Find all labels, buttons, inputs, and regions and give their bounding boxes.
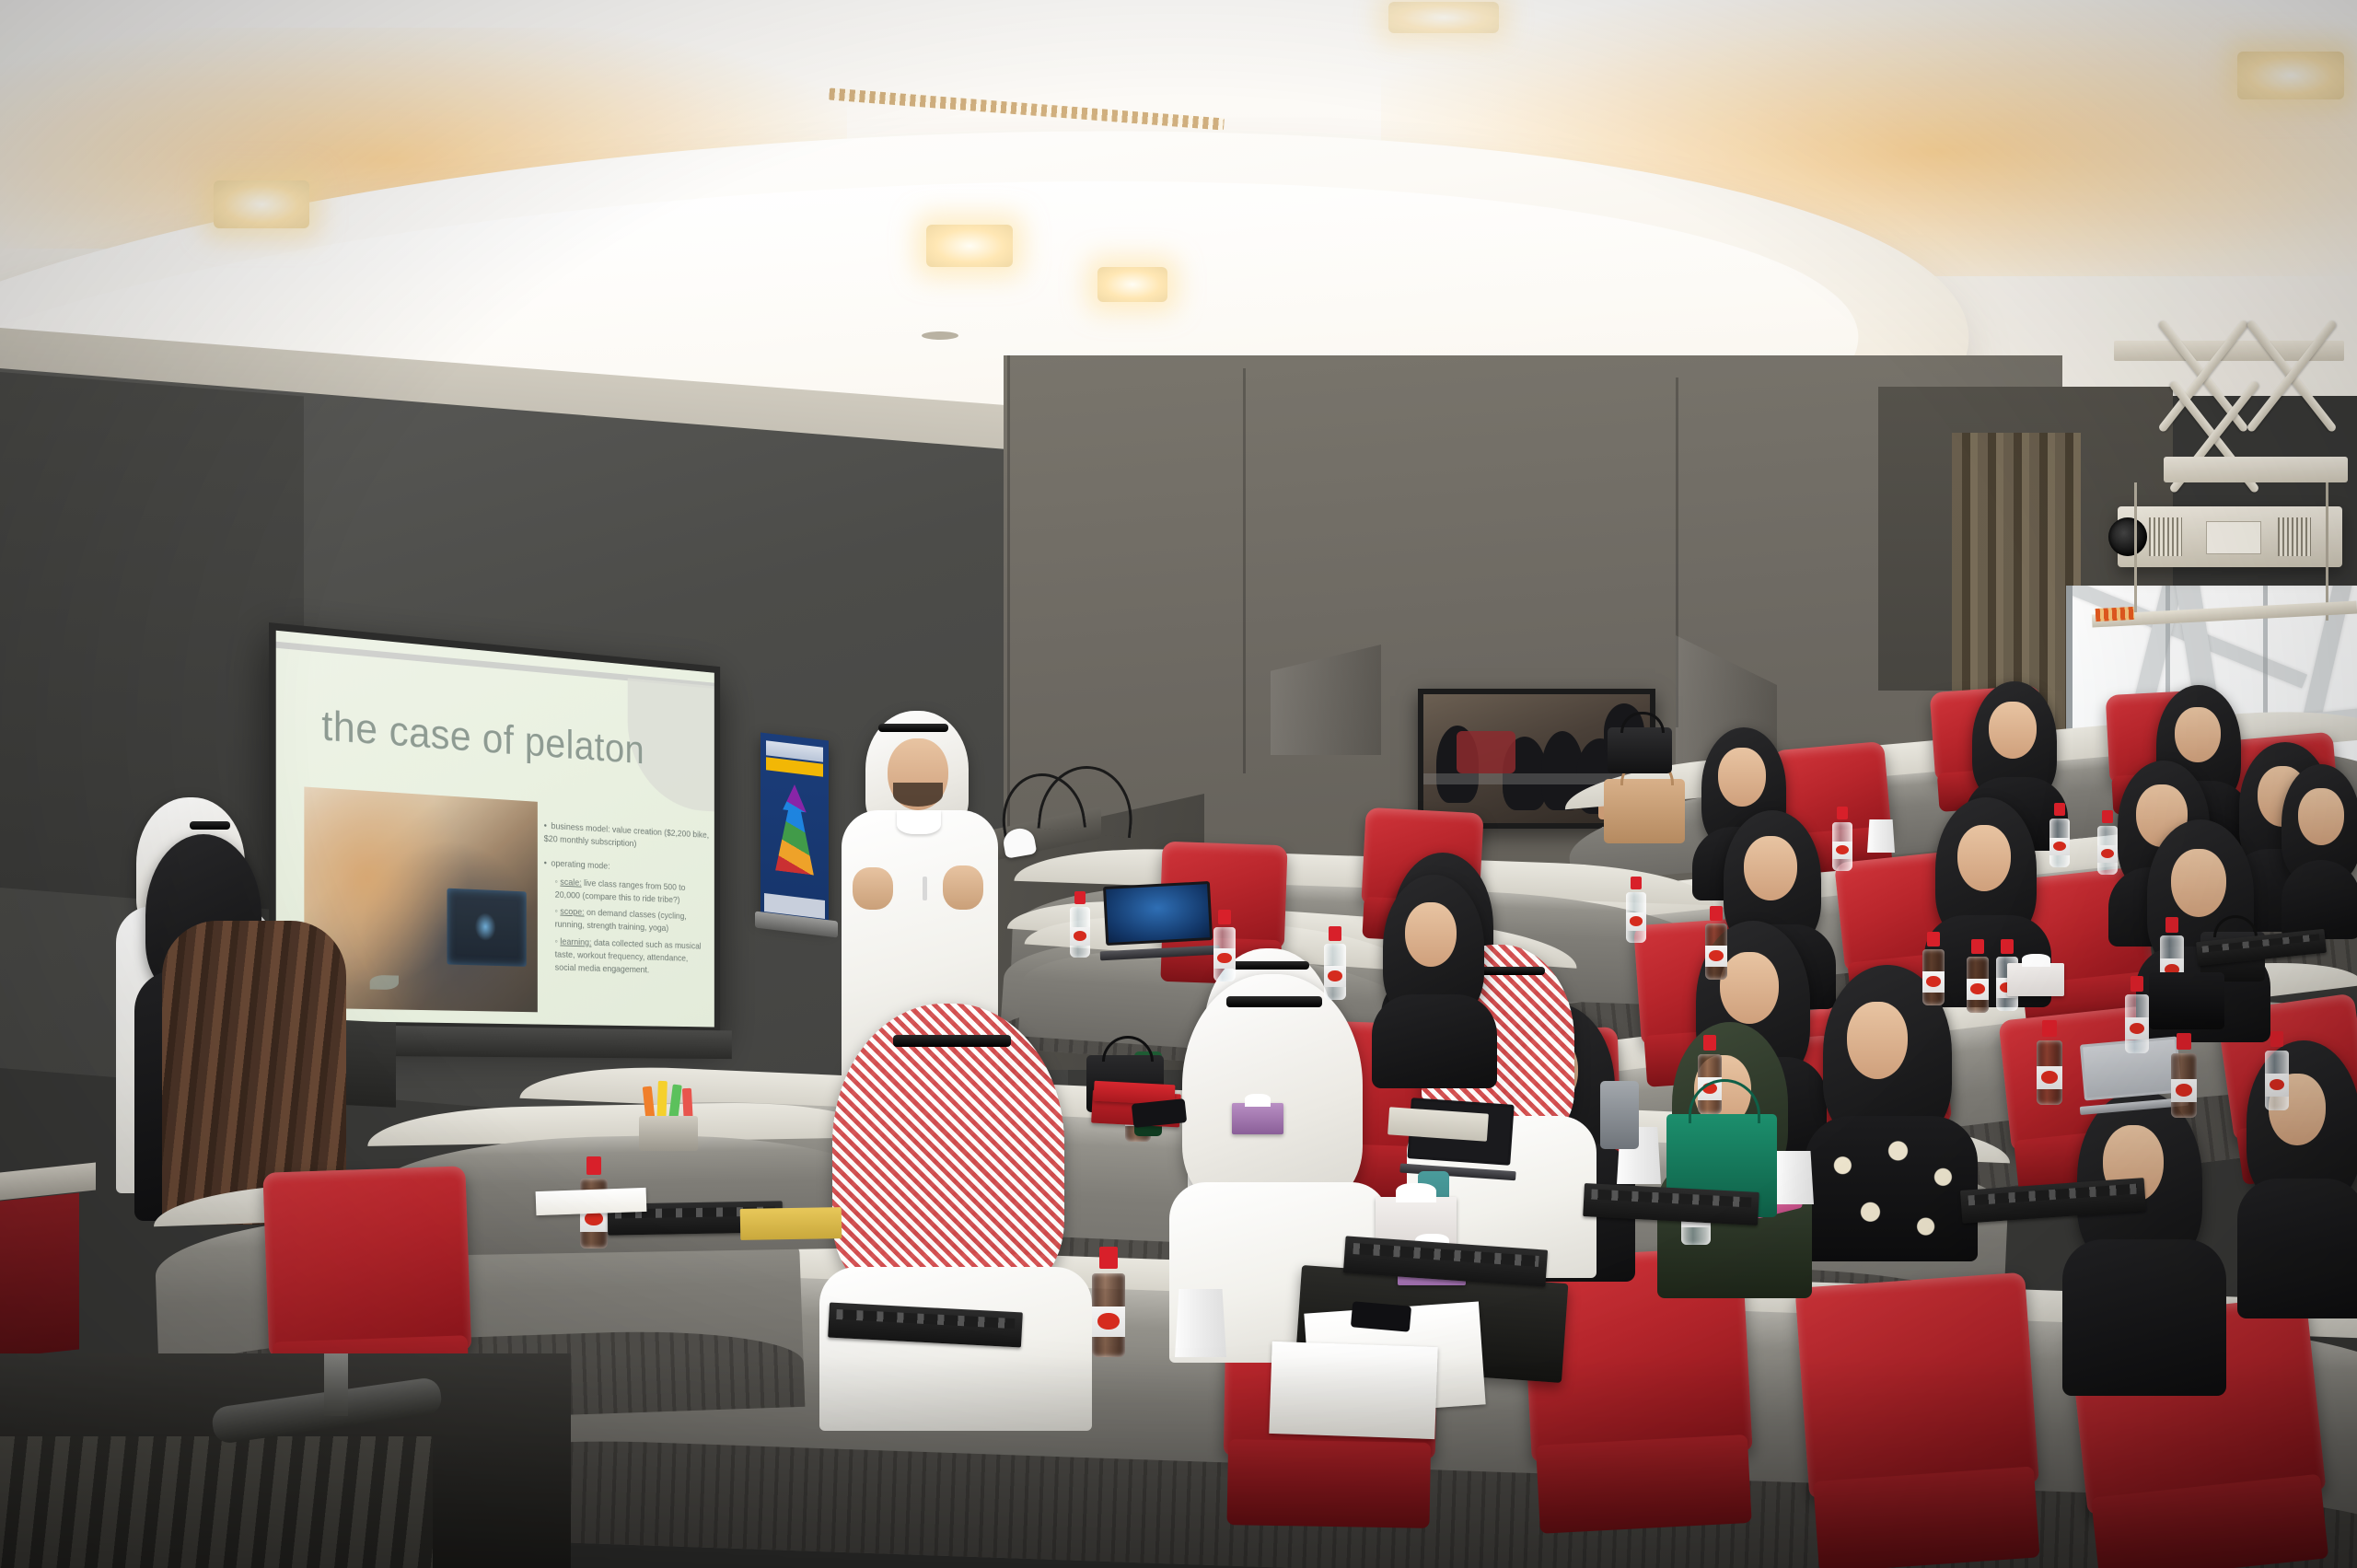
water-bottle[interactable] <box>2125 976 2149 1053</box>
downlight-icon <box>1097 267 1167 302</box>
abaya <box>1372 994 1497 1088</box>
soft-drink-bottle[interactable] <box>1967 939 1989 1013</box>
handbag[interactable] <box>1608 727 1672 773</box>
face <box>2171 849 2226 917</box>
soft-drink-bottle[interactable] <box>1092 1247 1125 1357</box>
face <box>1718 748 1766 807</box>
downlight-icon <box>2237 52 2344 99</box>
sub-bullet-circle-icon: ◦ <box>555 906 558 916</box>
attendee <box>819 1004 1096 1427</box>
sprinkler-icon <box>930 317 950 341</box>
slide-bullet-list: •business model: value creation ($2,200 … <box>544 819 710 981</box>
slide-sub-bullets: ◦ scale: live class ranges from 500 to 2… <box>555 876 710 979</box>
soft-drink-bottle[interactable] <box>2037 1020 2062 1105</box>
water-bottle[interactable] <box>1213 910 1236 981</box>
downlight-icon <box>926 225 1013 267</box>
water-bottle[interactable] <box>2265 1031 2289 1110</box>
bullet-dot-icon: • <box>544 857 552 871</box>
attendee <box>2282 764 2357 939</box>
papers[interactable] <box>1269 1342 1437 1439</box>
slide-photo-bike-screen <box>447 889 526 967</box>
ghutra-white <box>1182 974 1363 1206</box>
face <box>1989 702 2037 759</box>
presenter-agal <box>878 724 948 732</box>
lift-support-rod <box>2326 482 2328 621</box>
notepad-yellow[interactable] <box>740 1207 842 1240</box>
face <box>1957 825 2011 891</box>
slide-bullet-2: operating mode: <box>551 858 610 871</box>
water-bottle[interactable] <box>1832 807 1852 871</box>
projector-mount-plate <box>2164 457 2348 482</box>
paper-cup[interactable] <box>1773 1151 1814 1204</box>
presenter-collar <box>897 810 941 834</box>
face <box>1744 836 1797 900</box>
presenter-right-hand <box>943 865 983 910</box>
slide-leaf-decor <box>370 975 399 990</box>
slide-title: the case of pelaton <box>321 701 644 773</box>
sub-bullet-circle-icon: ◦ <box>555 877 558 887</box>
slide-sub-bullet-scope: ◦ scope: on demand classes (cycling, run… <box>555 905 710 937</box>
bullet-dot-icon: • <box>544 819 552 833</box>
side-shelf <box>0 1163 96 1201</box>
chair-post <box>324 1353 348 1416</box>
soft-drink-bottle[interactable] <box>1705 906 1727 980</box>
ceiling-projector <box>2118 506 2342 567</box>
water-bottle[interactable] <box>1324 926 1346 1000</box>
projector-lens-icon <box>2108 517 2147 556</box>
ghutra-red-checked <box>832 1004 1064 1296</box>
downlight-icon <box>214 180 309 228</box>
standee-banner <box>761 732 829 924</box>
handbag[interactable] <box>2149 972 2224 1029</box>
banner-artwork <box>768 781 821 876</box>
laptop[interactable] <box>1103 881 1213 960</box>
handbag[interactable] <box>1604 779 1685 843</box>
face <box>2175 707 2221 762</box>
agal <box>1232 961 1309 970</box>
water-bottle[interactable] <box>1626 877 1646 943</box>
presenter-beard <box>893 783 943 807</box>
attendee <box>2237 1040 2357 1317</box>
floor-strips <box>0 1436 433 1568</box>
water-bottle[interactable] <box>1070 891 1090 958</box>
pen-cup[interactable] <box>639 1116 698 1151</box>
wall-seam <box>1243 368 1246 773</box>
presenter-left-hand <box>853 867 893 910</box>
sub-bullet-term: scale: <box>560 877 581 888</box>
water-bottle[interactable] <box>2049 803 2070 867</box>
soft-drink-bottle[interactable] <box>1922 932 1945 1005</box>
lift-support-rod <box>2134 482 2137 621</box>
lecture-hall-photo: the case of pelaton •business model: val… <box>0 0 2357 1568</box>
patterned-abaya <box>1805 1116 1978 1261</box>
attendee <box>1805 965 1980 1260</box>
papers[interactable] <box>536 1188 647 1215</box>
downlight-icon <box>1388 2 1499 33</box>
travel-mug[interactable] <box>1600 1081 1639 1149</box>
thobe <box>819 1267 1092 1431</box>
water-bottle[interactable] <box>2097 810 2118 875</box>
red-storage-box <box>0 1192 79 1357</box>
slide-sub-bullet-scale: ◦ scale: live class ranges from 500 to 2… <box>555 876 710 909</box>
sub-bullet-term: scope: <box>560 906 584 917</box>
tissue-box[interactable] <box>2007 963 2064 996</box>
mobile-phone[interactable] <box>1351 1301 1411 1331</box>
agal <box>1226 996 1322 1007</box>
soft-drink-bottle[interactable] <box>2171 1033 2197 1118</box>
face <box>2298 788 2344 845</box>
tissue-box[interactable] <box>1232 1103 1283 1134</box>
slide-sub-bullet-learning: ◦ learning: data collected such as music… <box>555 935 710 978</box>
lift-warning-strip <box>2096 607 2135 621</box>
attendee <box>1372 875 1501 1086</box>
abaya <box>2282 860 2357 939</box>
presenter-pen <box>923 877 927 900</box>
face <box>1847 1002 1908 1079</box>
agal <box>893 1035 1011 1047</box>
chair[interactable] <box>1794 1272 2044 1568</box>
slide-bullet-1-row: •business model: value creation ($2,200 … <box>544 819 710 855</box>
face <box>1720 952 1779 1024</box>
sub-bullet-term: learning: <box>560 936 591 947</box>
face <box>1405 902 1457 967</box>
sub-bullet-circle-icon: ◦ <box>555 935 558 946</box>
abaya <box>2062 1239 2226 1396</box>
abaya <box>2237 1179 2357 1318</box>
slide-bullet-1: business model: value creation ($2,200 b… <box>544 821 709 850</box>
paper-cup[interactable] <box>1175 1289 1226 1357</box>
paper-cup[interactable] <box>1867 819 1895 853</box>
standing-agal <box>190 821 230 830</box>
attendee <box>2062 1090 2228 1394</box>
